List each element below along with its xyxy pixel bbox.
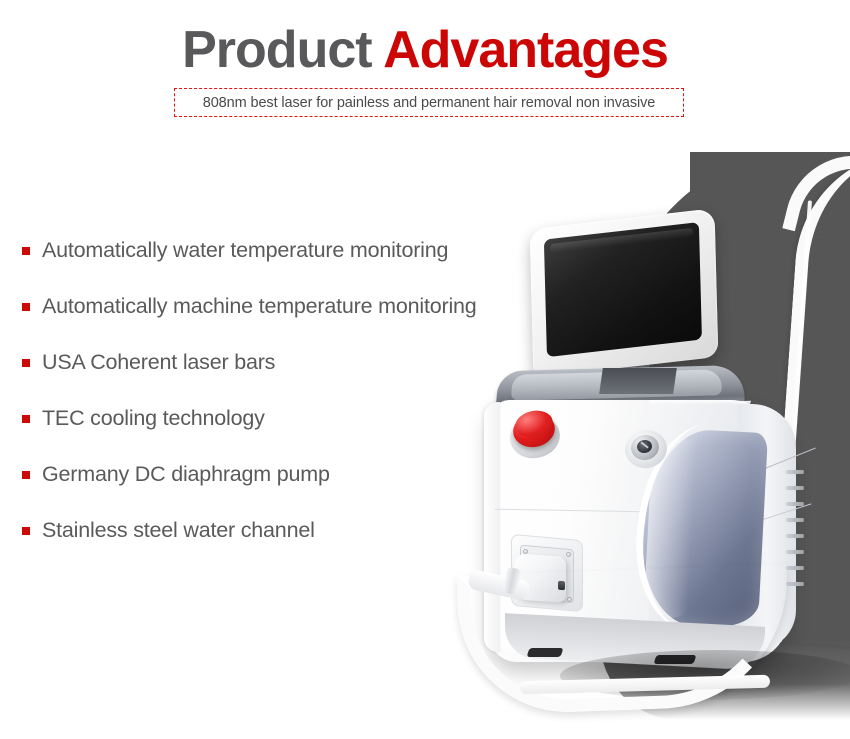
feature-list: Automatically water temperature monitori…	[22, 222, 562, 558]
subtitle-box: 808nm best laser for painless and perman…	[174, 88, 684, 117]
vent-slot	[786, 534, 804, 538]
feature-label: USA Coherent laser bars	[42, 350, 275, 375]
title-part-product: Product	[182, 21, 371, 79]
touchscreen-display	[544, 222, 702, 357]
vent-slot	[786, 518, 804, 522]
page-header: Product Advantages 808nm best laser for …	[0, 0, 850, 130]
feature-label: TEC cooling technology	[42, 406, 265, 431]
list-item: Automatically machine temperature monito…	[22, 278, 562, 334]
bullet-square-icon	[22, 527, 30, 535]
vent-slot	[786, 486, 804, 490]
list-item: Stainless steel water channel	[22, 502, 562, 558]
vent-slot	[786, 550, 804, 554]
feature-label: Automatically water temperature monitori…	[42, 238, 448, 263]
feature-label: Stainless steel water channel	[42, 518, 315, 543]
vent-slot	[786, 566, 804, 570]
bullet-square-icon	[22, 303, 30, 311]
bullet-square-icon	[22, 247, 30, 255]
vent-slot	[786, 502, 804, 506]
title-part-advantages: Advantages	[383, 21, 668, 79]
subtitle-text: 808nm best laser for painless and perman…	[203, 95, 656, 111]
page-title: Product Advantages	[0, 24, 850, 76]
list-item: USA Coherent laser bars	[22, 334, 562, 390]
vent-slot	[786, 470, 804, 474]
feature-label: Germany DC diaphragm pump	[42, 462, 330, 487]
bullet-square-icon	[22, 471, 30, 479]
vent-slot	[786, 582, 804, 586]
feature-label: Automatically machine temperature monito…	[42, 294, 477, 319]
machine-top-slot	[599, 368, 677, 394]
list-item: Automatically water temperature monitori…	[22, 222, 562, 278]
product-advantages-page: Product Advantages 808nm best laser for …	[0, 0, 850, 739]
bullet-square-icon	[22, 415, 30, 423]
port-screw	[566, 552, 571, 557]
list-item: Germany DC diaphragm pump	[22, 446, 562, 502]
list-item: TEC cooling technology	[22, 390, 562, 446]
bullet-square-icon	[22, 359, 30, 367]
